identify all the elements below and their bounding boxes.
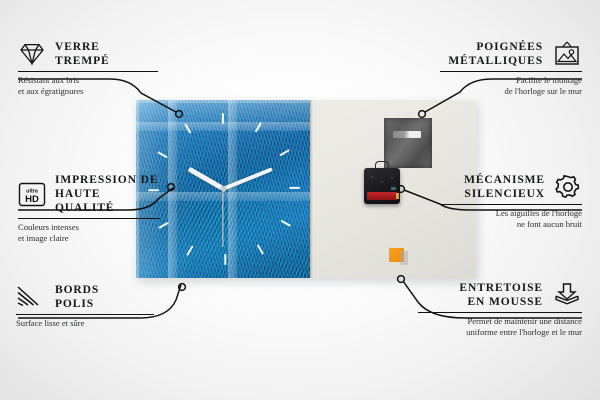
- clock-face-panel: [136, 100, 310, 278]
- infographic-canvas: VERRE TREMPÉ Résistant aux bris et aux é…: [0, 0, 600, 400]
- ultra-hd-icon-bottom-label: HD: [25, 194, 39, 205]
- battery: [367, 192, 397, 200]
- clock-hands: [136, 100, 310, 278]
- callout-rule: [18, 218, 160, 219]
- callout-rule: [418, 312, 582, 313]
- connector-dot-bords-polis: [179, 284, 186, 291]
- callout-poignees-metalliques: POIGNÉES MÉTALLIQUES Facilite le montage…: [440, 40, 582, 96]
- clock-hub: [221, 187, 226, 192]
- callout-rule: [440, 71, 582, 72]
- callout-entretoise-en-mousse: ENTRETOISE EN MOUSSE Permet de maintenir…: [418, 281, 582, 337]
- callout-impression-haute-qualite: ultra HD IMPRESSION DE HAUTE QUALITÉ Cou…: [18, 173, 160, 243]
- callout-title: BORDS POLIS: [55, 283, 99, 311]
- hanger-slot: [393, 131, 421, 138]
- diamond-icon: [18, 42, 46, 66]
- product-photo: [136, 100, 476, 278]
- callout-title: MÉCANISME SILENCIEUX: [464, 173, 545, 201]
- callout-title: POIGNÉES MÉTALLIQUES: [448, 40, 543, 68]
- callout-description: Surface lisse et sûre: [16, 318, 154, 329]
- movement-detail: [368, 174, 396, 188]
- callout-description: Résistant aux bris et aux égratignures: [18, 75, 158, 96]
- callout-title: IMPRESSION DE HAUTE QUALITÉ: [55, 173, 160, 215]
- callout-rule: [16, 314, 154, 315]
- callout-verre-trempe: VERRE TREMPÉ Résistant aux bris et aux é…: [18, 40, 158, 96]
- callout-description: Les aiguilles de l'horloge ne font aucun…: [440, 208, 582, 229]
- callout-rule: [440, 204, 582, 205]
- callout-rule: [18, 71, 158, 72]
- hanger-loop: [375, 161, 389, 170]
- hour-hand: [187, 167, 224, 191]
- metal-hanger-plate: [384, 118, 432, 168]
- gear-icon: [554, 174, 582, 200]
- callout-title: VERRE TREMPÉ: [55, 40, 110, 68]
- callout-description: Facilite le montage de l'horloge sur le …: [440, 75, 582, 96]
- quartz-movement: [364, 168, 400, 204]
- second-hand: [222, 189, 223, 247]
- callout-mecanisme-silencieux: MÉCANISME SILENCIEUX Les aiguilles de l'…: [440, 173, 582, 229]
- minute-hand: [222, 167, 273, 191]
- ultra-hd-icon: ultra HD: [18, 182, 46, 207]
- foam-spacer-icon: [552, 282, 582, 308]
- foam-spacer: [389, 248, 404, 262]
- callout-description: Couleurs intenses et image claire: [18, 222, 160, 243]
- picture-hanging-icon: [552, 41, 582, 67]
- panel-edge: [310, 100, 313, 278]
- movement-chip: [391, 187, 396, 190]
- callout-title: ENTRETOISE EN MOUSSE: [459, 281, 543, 309]
- polished-edges-icon: [16, 285, 46, 309]
- callout-bords-polis: BORDS POLIS Surface lisse et sûre: [16, 283, 154, 329]
- callout-description: Permet de maintenir une distance uniform…: [418, 316, 582, 337]
